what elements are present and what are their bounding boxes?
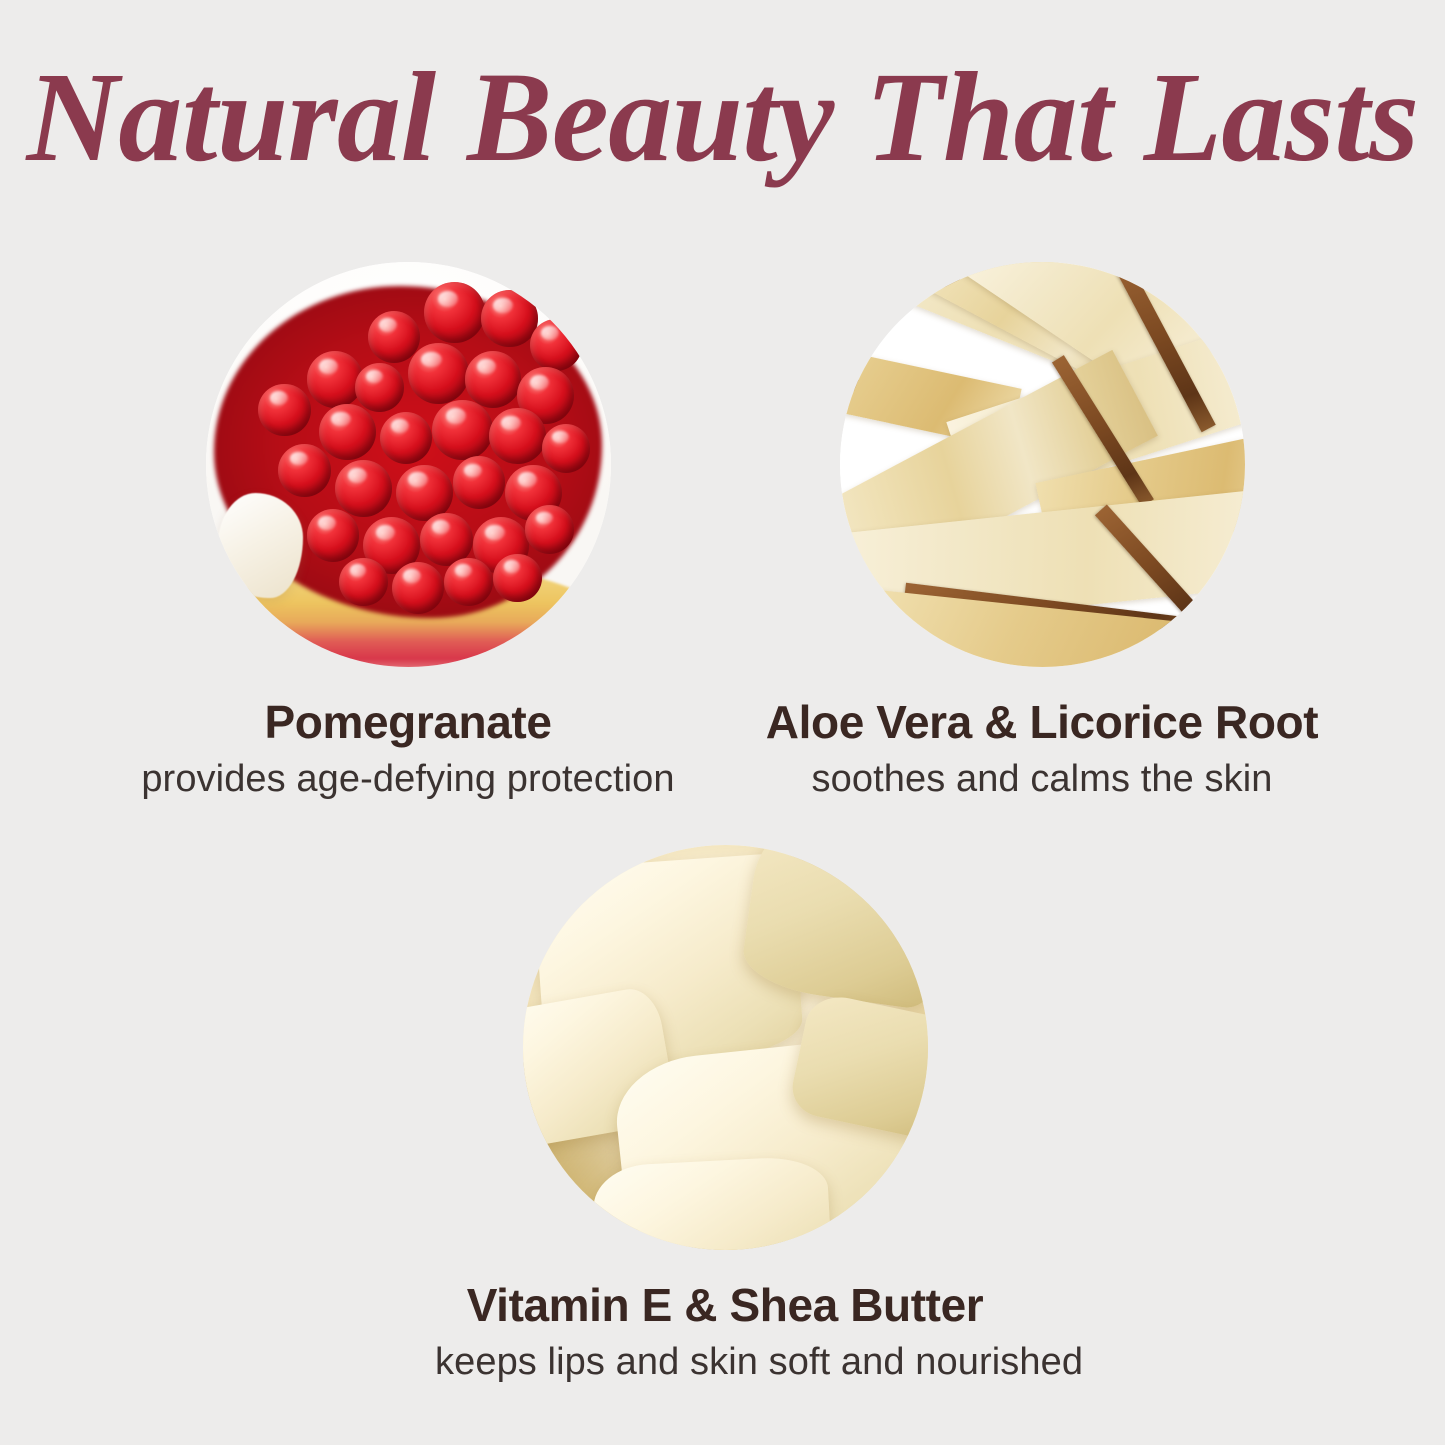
licorice-root-photo (840, 262, 1245, 667)
ingredient-grid: Pomegranate provides age-defying protect… (0, 0, 1445, 1445)
ingredient-description: soothes and calms the skin (752, 757, 1332, 803)
shea-butter-photo (523, 845, 928, 1250)
ingredient-name: Vitamin E & Shea Butter (435, 1280, 1015, 1332)
ingredient-card-shea-butter: Vitamin E & Shea Butter keeps lips and s… (435, 845, 1015, 1385)
ingredient-name: Pomegranate (118, 697, 698, 749)
ingredient-description: provides age-defying protection (118, 757, 698, 803)
pomegranate-photo (206, 262, 611, 667)
licorice-root-image-art (840, 262, 1245, 667)
ingredient-card-pomegranate: Pomegranate provides age-defying protect… (118, 262, 698, 802)
pomegranate-image-art (206, 262, 611, 667)
shea-butter-image-art (523, 845, 928, 1250)
ingredient-card-licorice-root: Aloe Vera & Licorice Root soothes and ca… (752, 262, 1332, 802)
ingredient-name: Aloe Vera & Licorice Root (752, 697, 1332, 749)
ingredient-description: keeps lips and skin soft and nourished (435, 1340, 1015, 1386)
